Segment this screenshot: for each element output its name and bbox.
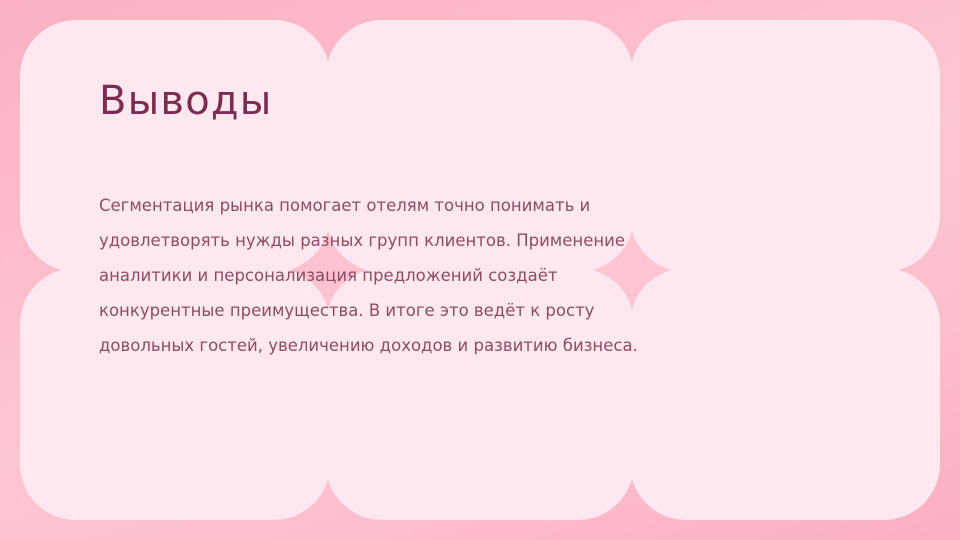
slide-canvas: Выводы Сегментация рынка помогает отелям… (0, 0, 960, 540)
body-paragraph: Сегментация рынка помогает отелям точно … (99, 189, 639, 364)
slide-content: Выводы Сегментация рынка помогает отелям… (0, 0, 960, 540)
page-title: Выводы (99, 78, 273, 124)
